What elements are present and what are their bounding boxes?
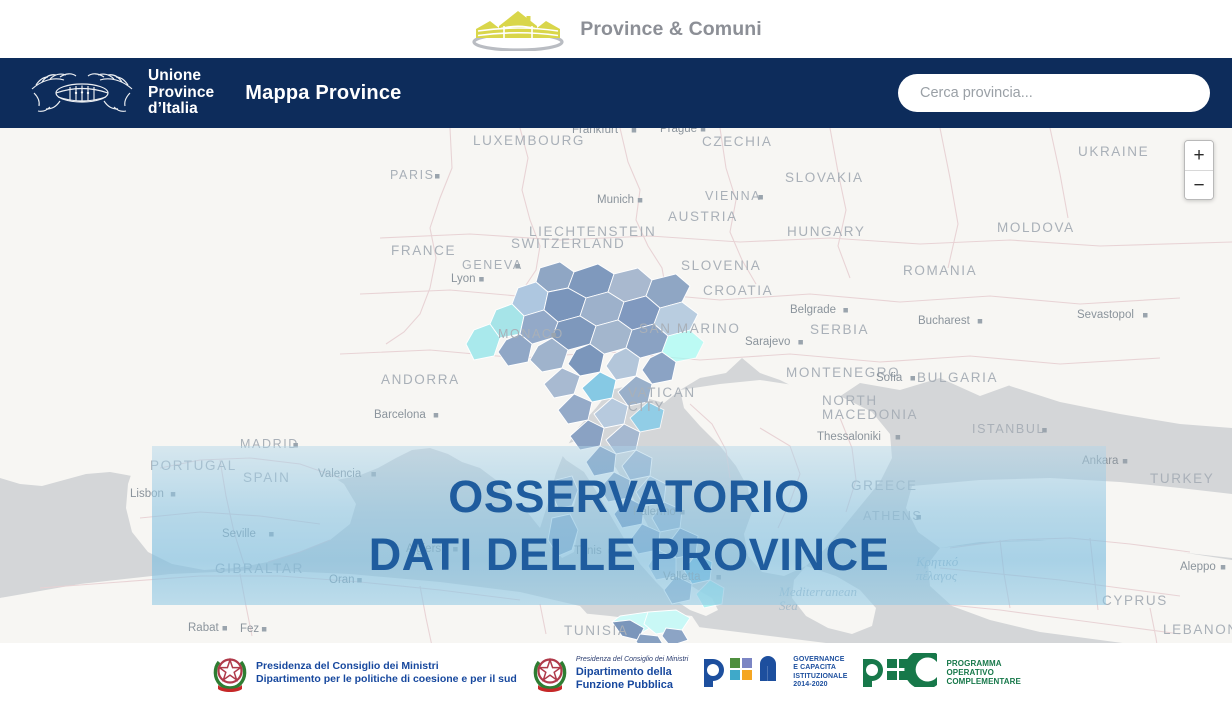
- upi-line-3: d’Italia: [148, 100, 198, 117]
- poc-line-3: COMPLEMENTARE: [946, 677, 1020, 686]
- footer-script-line: Presidenza del Consiglio dei Ministri: [576, 654, 688, 667]
- map-city-marker: [515, 264, 520, 269]
- map-label: Lyon: [451, 273, 476, 285]
- pon-line-2: E CAPACITA: [793, 664, 847, 672]
- map-label: ROMANIA: [903, 263, 977, 278]
- map-label: LEBANON: [1163, 622, 1232, 637]
- map-canvas[interactable]: .cn{font-family:"Liberation Sans",sans-s…: [0, 128, 1232, 643]
- upi-line-1: Unione: [148, 67, 201, 84]
- footer-line-1: Presidenza del Consiglio dei Ministri: [256, 660, 517, 673]
- italian-republic-emblem-icon: [211, 652, 249, 694]
- hero-overlay: OSSERVATORIO DATI DELLE PROVINCE: [152, 446, 1106, 605]
- map-city-marker: [1123, 459, 1128, 464]
- upi-line-2: Province: [148, 84, 214, 101]
- footer-line-1: Dipartimento della: [576, 666, 688, 679]
- map-label: SERBIA: [810, 322, 869, 337]
- upi-logo[interactable]: Unione Province d’Italia: [26, 67, 214, 119]
- footer-line-2: Dipartimento per le politiche di coesion…: [256, 673, 517, 686]
- map-label: Thessaloniki: [817, 431, 881, 443]
- poc-caption: PROGRAMMA OPERATIVO COMPLEMENTARE: [946, 659, 1020, 686]
- map-city-marker: [843, 308, 848, 313]
- pon-line-4: 2014-2020: [793, 681, 847, 689]
- map-city-marker: [758, 195, 763, 200]
- map-label: CYPRUS: [1102, 593, 1168, 608]
- hero-title-line2: DATI DELLE PROVINCE: [369, 529, 890, 581]
- map-city-marker: [1221, 565, 1226, 570]
- zoom-control[interactable]: + −: [1184, 140, 1214, 200]
- map-label: TURKEY: [1150, 471, 1214, 486]
- map-label: SAN MARINO: [639, 321, 741, 336]
- map-city-marker: [551, 333, 556, 338]
- map-label: CZECHIA: [702, 134, 772, 149]
- map-label: Barcelona: [374, 409, 426, 421]
- houses-dome-logo-icon: [470, 7, 566, 51]
- footer-line-2: Funzione Pubblica: [576, 679, 688, 692]
- footer-logo-pon[interactable]: GOVERNANCE E CAPACITA ISTITUZIONALE 2014…: [702, 653, 847, 692]
- footer-text-funzione-pubblica: Presidenza del Consiglio dei Ministri Di…: [576, 654, 688, 692]
- map-label: Sevastopol: [1077, 309, 1134, 321]
- map-city-marker: [632, 128, 637, 133]
- footer-logo-funzione-pubblica[interactable]: Presidenza del Consiglio dei Ministri Di…: [531, 652, 688, 694]
- map-label: Sofia: [876, 372, 903, 384]
- map-label: UKRAINE: [1078, 144, 1149, 159]
- map-city-marker: [1042, 428, 1047, 433]
- map-label: ANDORRA: [381, 372, 460, 387]
- pon-line-3: ISTITUZIONALE: [793, 673, 847, 681]
- upi-crest-icon: [26, 67, 138, 119]
- map-city-marker: [223, 626, 228, 631]
- zoom-in-button[interactable]: +: [1185, 141, 1213, 170]
- map-label: AUSTRIA: [668, 209, 738, 224]
- map-city-marker: [435, 174, 440, 179]
- navbar: Unione Province d’Italia Mappa Province: [0, 58, 1232, 128]
- page-title: Mappa Province: [245, 82, 401, 105]
- poc-logo-icon: [861, 653, 941, 692]
- map-label: Fez: [240, 623, 259, 635]
- map-label: VIENNA: [705, 189, 761, 203]
- map-city-marker: [262, 627, 267, 632]
- map-label: HUNGARY: [787, 224, 865, 239]
- poc-line-2: OPERATIVO: [946, 668, 1020, 677]
- pon-line-1: GOVERNANCE: [793, 656, 847, 664]
- map-label: Aleppo: [1180, 561, 1216, 573]
- map-city-marker: [479, 277, 484, 282]
- search-input[interactable]: [898, 74, 1210, 112]
- footer-logo-poc[interactable]: PROGRAMMA OPERATIVO COMPLEMENTARE: [861, 653, 1020, 692]
- map-label: BULGARIA: [917, 370, 998, 385]
- map-label: SLOVENIA: [681, 258, 761, 273]
- map-label: CROATIA: [703, 283, 773, 298]
- map-city-marker: [911, 376, 916, 381]
- map-label: Sarajevo: [745, 336, 790, 348]
- map-city-marker: [701, 128, 706, 132]
- map-label: Bucharest: [918, 315, 971, 327]
- poc-line-1: PROGRAMMA: [946, 659, 1020, 668]
- map-city-marker: [434, 413, 439, 418]
- pon-caption: GOVERNANCE E CAPACITA ISTITUZIONALE 2014…: [793, 656, 847, 689]
- footer-logo-presidenza-coesione[interactable]: Presidenza del Consiglio dei Ministri Di…: [211, 652, 517, 694]
- map-label: ISTANBUL: [972, 422, 1045, 436]
- search-container: [898, 74, 1210, 112]
- app-root: Province & Comuni: [0, 0, 1232, 702]
- map-label: PARIS: [390, 168, 435, 182]
- map-label: MOLDOVA: [997, 220, 1075, 235]
- site-title: Province & Comuni: [580, 18, 762, 41]
- footer-text-presidenza: Presidenza del Consiglio dei Ministri Di…: [256, 660, 517, 685]
- map-label: TUNISIA: [564, 623, 628, 638]
- map-city-marker: [798, 340, 803, 345]
- upi-logo-text: Unione Province d’Italia: [148, 68, 214, 118]
- pon-logo-icon: [702, 653, 788, 692]
- hero-title-line1: OSSERVATORIO: [448, 471, 809, 523]
- map-city-marker: [978, 319, 983, 324]
- map-label: LUXEMBOURG: [473, 133, 585, 148]
- map-label: Belgrade: [790, 304, 836, 316]
- map-label: Munich: [597, 194, 634, 206]
- footer: Presidenza del Consiglio dei Ministri Di…: [0, 643, 1232, 702]
- map-label: FRANCE: [391, 243, 456, 258]
- map-label: Prague: [660, 128, 697, 135]
- map-label: GENEVA: [462, 258, 523, 272]
- map-city-marker: [638, 198, 643, 203]
- map-label: Rabat: [188, 622, 219, 634]
- zoom-out-button[interactable]: −: [1185, 170, 1213, 199]
- map-city-marker: [1143, 313, 1148, 318]
- map-label: SWITZERLAND: [511, 236, 625, 251]
- map-label: SLOVAKIA: [785, 170, 864, 185]
- site-header: Province & Comuni: [0, 0, 1232, 58]
- map-city-marker: [896, 435, 901, 440]
- italian-republic-emblem-icon: [531, 652, 569, 694]
